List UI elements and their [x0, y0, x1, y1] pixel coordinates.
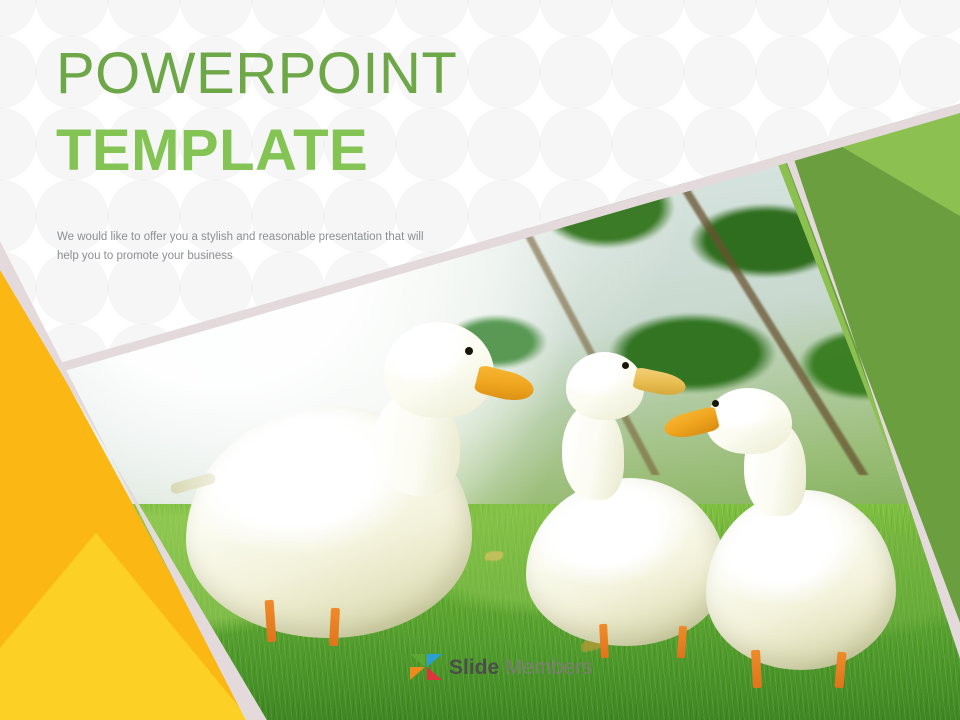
logo-word-slide: Slide [449, 656, 499, 679]
duck-head [384, 322, 494, 418]
duck-head [706, 388, 792, 454]
duck-leg [599, 624, 609, 658]
duck-eye [465, 347, 473, 355]
page-title-secondary: TEMPLATE [56, 121, 616, 180]
slide-members-logo[interactable]: Slide Members [409, 651, 593, 683]
duck-eye [622, 362, 629, 369]
duck-leg [751, 650, 762, 688]
logo-word-members: Members [499, 656, 592, 679]
pinwheel-icon [409, 651, 443, 683]
page-title-primary: POWERPOINT [56, 44, 616, 103]
logo-wordmark: Slide Members [449, 657, 593, 678]
subtitle-text: We would like to offer you a stylish and… [57, 228, 437, 265]
presentation-slide: POWERPOINT TEMPLATE We would like to off… [0, 0, 960, 720]
title-block: POWERPOINT TEMPLATE [56, 44, 616, 180]
duck-eye [712, 400, 719, 407]
